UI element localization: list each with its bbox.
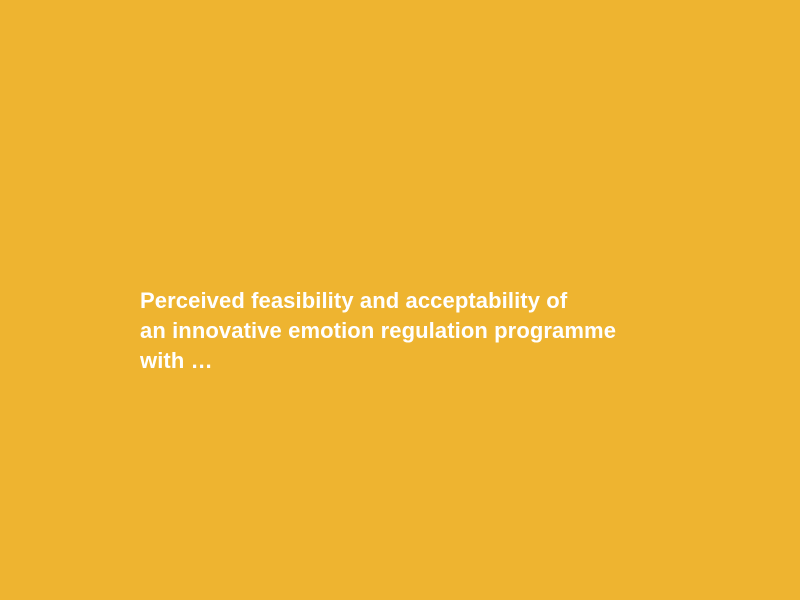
title-line-2: an innovative emotion regulation program… (140, 316, 680, 346)
title-line-1: Perceived feasibility and acceptability … (140, 286, 680, 316)
title-line-3: with … (140, 346, 680, 376)
title-text-block: Perceived feasibility and acceptability … (140, 286, 680, 376)
title-card: Perceived feasibility and acceptability … (0, 0, 800, 600)
